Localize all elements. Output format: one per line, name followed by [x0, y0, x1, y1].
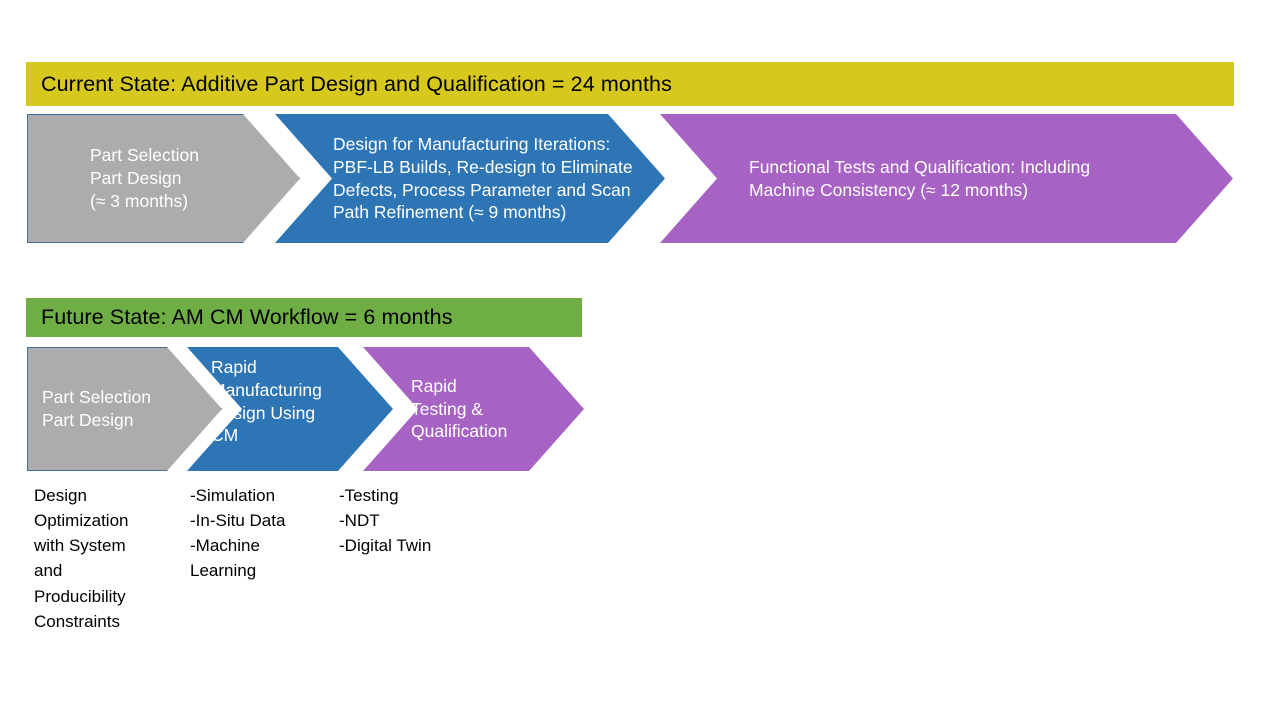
future-state-banner: Future State: AM CM Workflow = 6 months	[26, 298, 582, 337]
design-optimization-note: Design Optimization with System and Prod…	[34, 483, 184, 634]
future-step-part-selection-design[interactable]: Part Selection Part Design	[27, 347, 222, 471]
future-step-rapid-testing-qualification-label: Rapid Testing & Qualification	[411, 375, 507, 443]
manufacturing-design-note: -Simulation -In-Situ Data -Machine Learn…	[190, 483, 335, 584]
future-state-process-row: Part Selection Part Design Rapid Manufac…	[0, 0, 1280, 220]
slide-canvas: Current State: Additive Part Design and …	[0, 0, 1280, 720]
future-step-rapid-manufacturing-design-using-cm-label: Rapid Manufacturing Design Using CM	[211, 356, 322, 447]
testing-qualification-note: -Testing -NDT -Digital Twin	[339, 483, 499, 558]
future-step-part-selection-design-label: Part Selection Part Design	[42, 386, 151, 432]
future-step-rapid-testing-qualification[interactable]: Rapid Testing & Qualification	[363, 347, 584, 471]
